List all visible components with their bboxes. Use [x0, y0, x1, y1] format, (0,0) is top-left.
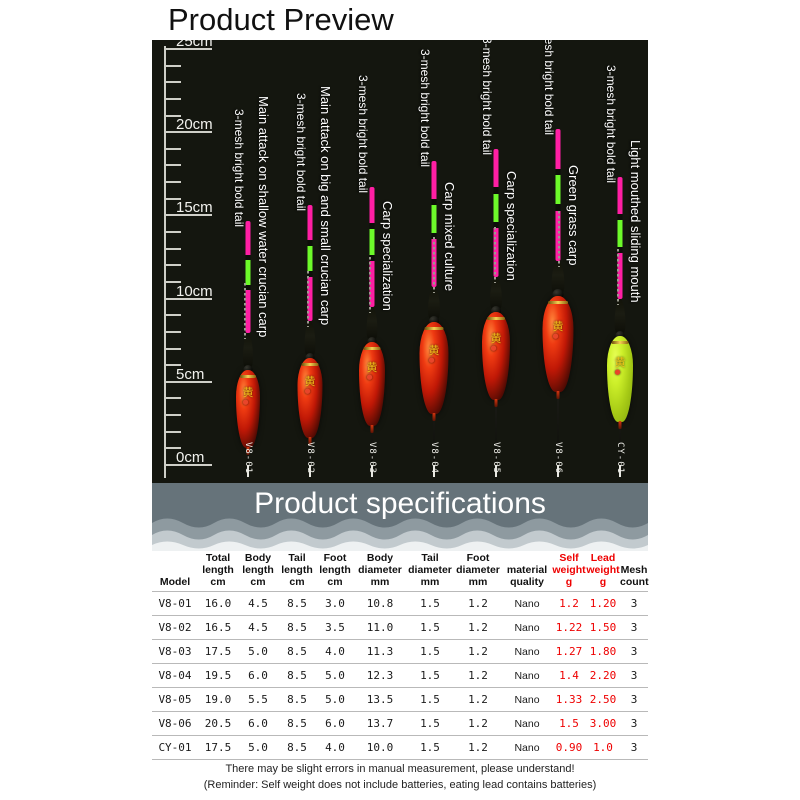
table-header-cell: Footlengthcm — [316, 551, 354, 592]
float-use-caption: Carp mixed culture — [442, 182, 457, 291]
float-body — [298, 358, 323, 438]
float-band — [612, 341, 629, 344]
table-cell: 4.5 — [238, 592, 278, 616]
table-cell: 6.0 — [238, 664, 278, 688]
float-use-caption: Main attack on big and small crucian car… — [318, 86, 333, 325]
table-header-line: mm — [454, 577, 502, 589]
float-use-caption: Carp specialization — [504, 171, 519, 281]
table-header-line: Self — [552, 553, 586, 565]
table-header-line: quality — [502, 577, 552, 589]
float-guide-dots — [307, 271, 309, 327]
table-cell: V8-05 — [152, 688, 198, 712]
table-cell: 1.22 — [552, 616, 586, 640]
ruler-tick-minor — [164, 181, 181, 183]
table-cell: CY-01 — [152, 736, 198, 760]
table-cell: 3 — [620, 592, 648, 616]
ruler-tick-minor — [164, 65, 181, 67]
table-cell: 1.2 — [454, 640, 502, 664]
table-header-line: g — [586, 577, 620, 589]
table-cell: 1.2 — [454, 616, 502, 640]
float-tail-caption: 3-mesh bright bold tail — [604, 65, 618, 183]
table-cell: 1.27 — [552, 640, 586, 664]
float-item[interactable]: 黄●V8-033-mesh bright bold tailCarp speci… — [340, 40, 404, 483]
float-body — [236, 370, 260, 448]
antenna-segment — [494, 149, 499, 187]
table-cell: 1.20 — [586, 592, 620, 616]
float-guide-dots — [558, 211, 560, 267]
float-model-label: CY-01 — [615, 442, 625, 474]
float-tail-caption: 3-mesh bright bold tail — [232, 109, 246, 227]
float-model-label: V8-06 — [553, 442, 563, 474]
float-logo-icon: 黄● — [367, 362, 378, 381]
ruler-tick-minor — [164, 331, 181, 333]
table-cell: V8-02 — [152, 616, 198, 640]
float-band — [364, 347, 381, 350]
table-cell: 11.0 — [354, 616, 406, 640]
table-cell: 1.2 — [454, 712, 502, 736]
table-cell: 3 — [620, 712, 648, 736]
float-tip — [371, 425, 374, 433]
table-header-line: Foot — [316, 553, 354, 565]
table-header-line: Body — [238, 553, 278, 565]
table-header-cell: Bodydiametermm — [354, 551, 406, 592]
table-header-cell: Leadweightg — [586, 551, 620, 592]
footnote-line-2: (Reminder: Self weight does not include … — [152, 778, 648, 794]
table-cell: 3 — [620, 616, 648, 640]
table-header-line: length — [278, 565, 316, 577]
float-use-caption: Carp specialization — [380, 201, 395, 311]
float-use-caption: Green grass carp — [566, 165, 581, 265]
antenna-segment — [308, 205, 313, 240]
float-guide-dots — [433, 237, 435, 293]
table-cell: 1.5 — [406, 736, 454, 760]
table-cell: 1.2 — [454, 664, 502, 688]
ruler-tick-minor — [164, 414, 181, 416]
table-cell: 17.5 — [198, 640, 238, 664]
table-header-line: count — [620, 577, 648, 589]
float-tip — [433, 413, 436, 421]
table-cell: 2.20 — [586, 664, 620, 688]
table-header-line: cm — [278, 577, 316, 589]
float-tip — [557, 391, 560, 399]
table-cell: V8-03 — [152, 640, 198, 664]
float-band — [302, 363, 319, 366]
ruler-tick-minor — [164, 264, 181, 266]
antenna-segment — [370, 187, 375, 223]
float-model-label: V8-03 — [367, 442, 377, 474]
table-cell: 3 — [620, 688, 648, 712]
float-body — [607, 336, 633, 422]
specifications-title: Product specifications — [152, 487, 648, 521]
antenna-segment — [618, 177, 623, 214]
float-logo-icon: 黄● — [491, 333, 502, 352]
ruler-tick-minor — [164, 81, 181, 83]
specifications-table: ModelTotallengthcmBodylengthcmTaillength… — [152, 551, 648, 760]
ruler-tick-minor — [164, 231, 181, 233]
table-cell: Nano — [502, 688, 552, 712]
table-cell: 3.5 — [316, 616, 354, 640]
table-row: V8-0419.56.08.55.012.31.51.2Nano1.42.203 — [152, 664, 648, 688]
table-cell: 1.4 — [552, 664, 586, 688]
wave-banner: Product specifications — [152, 483, 648, 551]
table-cell: 8.5 — [278, 592, 316, 616]
table-cell: 1.0 — [586, 736, 620, 760]
table-cell: 4.0 — [316, 640, 354, 664]
ruler-label: 5cm — [176, 366, 204, 383]
table-header-cell: Model — [152, 551, 198, 592]
table-header-line: weight — [586, 565, 620, 577]
float-model-label: V8-05 — [491, 442, 501, 474]
table-header-cell: materialquality — [502, 551, 552, 592]
antenna-segment — [618, 220, 623, 247]
table-header-cell: Bodylengthcm — [238, 551, 278, 592]
table-header-cell: Footdiametermm — [454, 551, 502, 592]
table-cell: 1.5 — [406, 712, 454, 736]
ruler-tick-minor — [164, 314, 181, 316]
table-row: V8-0116.04.58.53.010.81.51.2Nano1.21.203 — [152, 592, 648, 616]
table-header-line: Foot — [454, 553, 502, 565]
table-cell: V8-04 — [152, 664, 198, 688]
float-use-caption: Main attack on shallow water crucian car… — [256, 96, 271, 337]
table-cell: 8.5 — [278, 736, 316, 760]
table-header-line: g — [552, 577, 586, 589]
float-use-caption: Light mouthed sliding mouth — [628, 140, 643, 303]
float-band — [425, 327, 444, 330]
table-header-cell: Taillengthcm — [278, 551, 316, 592]
float-item[interactable]: 黄●V8-053-mesh bright bold tailCarp speci… — [464, 40, 528, 483]
table-cell: 16.5 — [198, 616, 238, 640]
float-tail-caption: 3-mesh bright bold tail — [294, 93, 308, 211]
float-item[interactable]: 黄●CY-013-mesh bright bold tailLight mout… — [588, 40, 648, 483]
table-cell: 20.5 — [198, 712, 238, 736]
float-logo-icon: 黄● — [243, 387, 254, 406]
page-title: Product Preview — [168, 2, 394, 38]
float-tail-caption: 3-mesh bright bold tail — [480, 40, 494, 155]
table-header-line: cm — [238, 577, 278, 589]
table-header-cell: Taildiametermm — [406, 551, 454, 592]
float-logo-icon: 黄● — [553, 321, 564, 340]
table-cell: 5.0 — [316, 664, 354, 688]
table-cell: 1.5 — [552, 712, 586, 736]
float-tail-caption: 3-mesh bright bold tail — [356, 75, 370, 193]
table-cell: 1.2 — [454, 688, 502, 712]
table-header-line: diameter — [354, 565, 406, 577]
antenna-segment — [556, 169, 561, 176]
float-guide-dots — [617, 249, 619, 305]
ruler-tick-minor — [164, 248, 181, 250]
float-body — [359, 342, 385, 426]
table-cell: 0.90 — [552, 736, 586, 760]
float-item[interactable]: 黄●V8-063-mesh bright bold tailGreen gras… — [526, 40, 590, 483]
table-header-line: mm — [406, 577, 454, 589]
table-cell: 19.0 — [198, 688, 238, 712]
float-guide-dots — [244, 283, 246, 339]
float-guide-dots — [369, 257, 371, 313]
table-header-cell: Selfweightg — [552, 551, 586, 592]
table-cell: 8.5 — [278, 616, 316, 640]
preview-panel: 25cm20cm15cm10cm5cm0cm 黄●V8-013-mesh bri… — [152, 40, 648, 483]
table-header-line: Body — [354, 553, 406, 565]
table-cell: 1.80 — [586, 640, 620, 664]
float-item[interactable]: 黄●V8-023-mesh bright bold tailMain attac… — [278, 40, 342, 483]
table-cell: 1.5 — [406, 640, 454, 664]
table-cell: 1.5 — [406, 688, 454, 712]
float-antenna — [246, 221, 251, 333]
table-row: V8-0216.54.58.53.511.01.51.2Nano1.221.50… — [152, 616, 648, 640]
table-header-line: cm — [198, 577, 238, 589]
table-cell: 3 — [620, 664, 648, 688]
table-header-line: mm — [354, 577, 406, 589]
ruler-tick-minor — [164, 98, 181, 100]
float-model-label: V8-02 — [305, 442, 315, 474]
table-header-line: Tail — [406, 553, 454, 565]
product-spec-page: Product Preview 25cm20cm15cm10cm5cm0cm 黄… — [0, 0, 800, 800]
antenna-segment — [308, 246, 313, 272]
ruler-tick-minor — [164, 348, 181, 350]
antenna-segment — [246, 260, 251, 285]
antenna-segment — [556, 204, 561, 211]
table-header-line: diameter — [406, 565, 454, 577]
float-model-label: V8-04 — [429, 442, 439, 474]
table-row: V8-0317.55.08.54.011.31.51.2Nano1.271.80… — [152, 640, 648, 664]
ruler-tick-minor — [164, 431, 181, 433]
table-cell: 3 — [620, 640, 648, 664]
float-tip — [495, 399, 498, 407]
float-body — [543, 296, 574, 392]
table-cell: 3.00 — [586, 712, 620, 736]
specifications-table-wrap: ModelTotallengthcmBodylengthcmTaillength… — [152, 551, 648, 760]
table-cell: 3 — [620, 736, 648, 760]
table-cell: 5.0 — [238, 640, 278, 664]
antenna-segment — [432, 161, 437, 199]
table-header-line: Mesh — [620, 565, 648, 577]
table-cell: Nano — [502, 640, 552, 664]
table-header-line: Total — [198, 553, 238, 565]
table-cell: 1.50 — [586, 616, 620, 640]
table-cell: 10.0 — [354, 736, 406, 760]
table-cell: V8-01 — [152, 592, 198, 616]
table-cell: 13.7 — [354, 712, 406, 736]
footnote-line-1: There may be slight errors in manual mea… — [152, 762, 648, 778]
float-model-label: V8-01 — [243, 442, 253, 474]
table-header-cell: Totallengthcm — [198, 551, 238, 592]
antenna-segment — [246, 221, 251, 255]
ruler-scale: 25cm20cm15cm10cm5cm0cm — [158, 40, 220, 483]
table-cell: 13.5 — [354, 688, 406, 712]
float-band — [487, 317, 505, 320]
ruler-label: 15cm — [176, 199, 213, 216]
table-cell: 1.5 — [406, 664, 454, 688]
float-tail-caption: 3-mesh bright bold tail — [542, 40, 556, 135]
table-header-row: ModelTotallengthcmBodylengthcmTaillength… — [152, 551, 648, 592]
table-cell: 12.3 — [354, 664, 406, 688]
table-cell: 4.5 — [238, 616, 278, 640]
table-cell: 10.8 — [354, 592, 406, 616]
table-cell: 11.3 — [354, 640, 406, 664]
float-tip — [619, 421, 622, 429]
table-cell: 16.0 — [198, 592, 238, 616]
table-cell: 1.33 — [552, 688, 586, 712]
float-logo-icon: 黄● — [429, 345, 440, 364]
table-cell: 1.5 — [406, 616, 454, 640]
table-cell: Nano — [502, 592, 552, 616]
ruler-label: 10cm — [176, 283, 213, 300]
float-guide-dots — [494, 227, 496, 283]
table-header-line: cm — [316, 577, 354, 589]
ruler-label: 20cm — [176, 116, 213, 133]
table-cell: 2.50 — [586, 688, 620, 712]
table-cell: 4.0 — [316, 736, 354, 760]
float-band — [548, 301, 568, 304]
table-cell: 5.0 — [238, 736, 278, 760]
ruler-label: 0cm — [176, 449, 204, 466]
table-header-line: length — [316, 565, 354, 577]
table-cell: Nano — [502, 616, 552, 640]
table-cell: 1.5 — [406, 592, 454, 616]
table-cell: 6.0 — [316, 712, 354, 736]
table-header-line: length — [198, 565, 238, 577]
table-cell: 1.2 — [552, 592, 586, 616]
table-header-cell: Meshcount — [620, 551, 648, 592]
table-header-line: length — [238, 565, 278, 577]
floats-area: 黄●V8-013-mesh bright bold tailMain attac… — [212, 40, 648, 483]
antenna-segment — [494, 194, 499, 222]
ruler-tick-minor — [164, 397, 181, 399]
float-item[interactable]: 黄●V8-043-mesh bright bold tailCarp mixed… — [402, 40, 466, 483]
table-header-line: Model — [152, 577, 198, 589]
table-row: CY-0117.55.08.54.010.01.51.2Nano0.901.03 — [152, 736, 648, 760]
table-cell: 8.5 — [278, 688, 316, 712]
table-cell: 1.2 — [454, 592, 502, 616]
ruler-tick-minor — [164, 164, 181, 166]
table-cell: Nano — [502, 664, 552, 688]
float-item[interactable]: 黄●V8-013-mesh bright bold tailMain attac… — [216, 40, 280, 483]
float-tail-caption: 3-mesh bright bold tail — [418, 49, 432, 167]
antenna-segment — [370, 229, 375, 255]
float-logo-icon: 黄● — [615, 357, 626, 376]
ruler-tick-minor — [164, 148, 181, 150]
table-cell: 8.5 — [278, 640, 316, 664]
table-header-line: diameter — [454, 565, 502, 577]
float-band — [240, 375, 256, 378]
table-header-line: weight — [552, 565, 586, 577]
antenna-segment — [246, 290, 251, 333]
antenna-segment — [556, 129, 561, 169]
table-cell: 8.5 — [278, 664, 316, 688]
table-row: V8-0519.05.58.55.013.51.51.2Nano1.332.50… — [152, 688, 648, 712]
table-cell: 6.0 — [238, 712, 278, 736]
table-cell: 19.5 — [198, 664, 238, 688]
float-body — [482, 312, 510, 400]
table-header-line: material — [502, 565, 552, 577]
table-row: V8-0620.56.08.56.013.71.51.2Nano1.53.003 — [152, 712, 648, 736]
table-header-line: Tail — [278, 553, 316, 565]
table-cell: Nano — [502, 736, 552, 760]
table-cell: 3.0 — [316, 592, 354, 616]
table-cell: V8-06 — [152, 712, 198, 736]
float-body — [420, 322, 449, 414]
table-cell: 5.5 — [238, 688, 278, 712]
footnote: There may be slight errors in manual mea… — [152, 762, 648, 794]
antenna-segment — [556, 175, 561, 204]
antenna-segment — [432, 205, 437, 233]
float-logo-icon: 黄● — [305, 376, 316, 395]
table-cell: 17.5 — [198, 736, 238, 760]
table-header-line: Lead — [586, 553, 620, 565]
table-cell: 8.5 — [278, 712, 316, 736]
table-cell: Nano — [502, 712, 552, 736]
table-cell: 5.0 — [316, 688, 354, 712]
table-cell: 1.2 — [454, 736, 502, 760]
ruler-label: 25cm — [176, 40, 213, 50]
